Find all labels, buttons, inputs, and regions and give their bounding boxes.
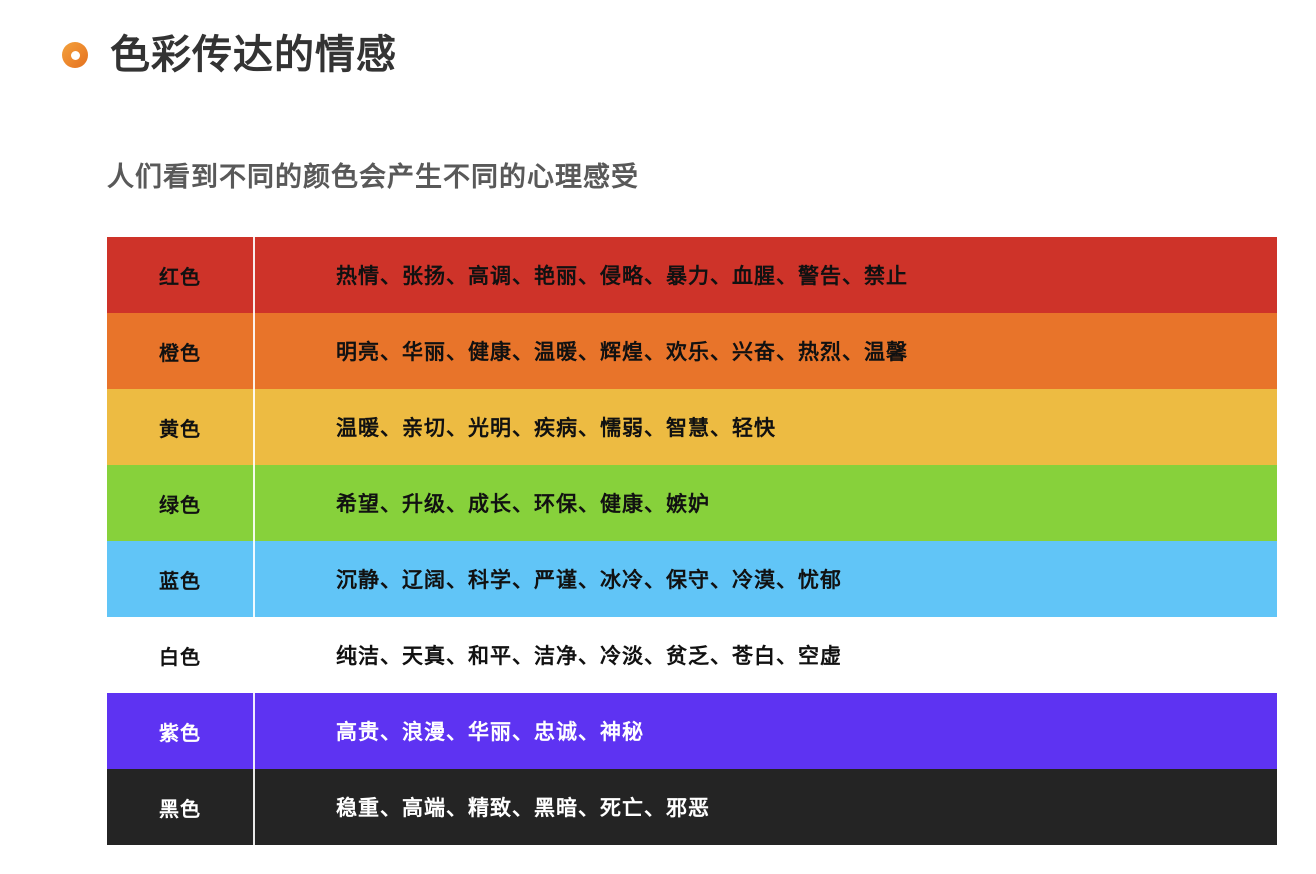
row-color-label: 白色 <box>107 641 253 670</box>
row-emotion-list: 稳重、高端、精致、黑暗、死亡、邪恶 <box>255 792 1277 822</box>
row-emotion-list: 沉静、辽阔、科学、严谨、冰冷、保守、冷漠、忧郁 <box>255 564 1277 594</box>
page-title: 色彩传达的情感 <box>110 35 397 75</box>
row-emotion-list: 明亮、华丽、健康、温暖、辉煌、欢乐、兴奋、热烈、温馨 <box>255 336 1277 366</box>
table-row: 黑色稳重、高端、精致、黑暗、死亡、邪恶 <box>107 769 1277 845</box>
table-row: 黄色温暖、亲切、光明、疾病、懦弱、智慧、轻快 <box>107 389 1277 465</box>
table-row: 橙色明亮、华丽、健康、温暖、辉煌、欢乐、兴奋、热烈、温馨 <box>107 313 1277 389</box>
row-emotion-list: 纯洁、天真、和平、洁净、冷淡、贫乏、苍白、空虚 <box>255 640 1277 670</box>
row-emotion-list: 高贵、浪漫、华丽、忠诚、神秘 <box>255 716 1277 746</box>
row-color-label: 红色 <box>107 261 253 290</box>
row-color-label: 蓝色 <box>107 565 253 594</box>
row-color-label: 绿色 <box>107 489 253 518</box>
table-row: 白色纯洁、天真、和平、洁净、冷淡、贫乏、苍白、空虚 <box>107 617 1277 693</box>
row-color-label: 紫色 <box>107 717 253 746</box>
row-emotion-list: 温暖、亲切、光明、疾病、懦弱、智慧、轻快 <box>255 412 1277 442</box>
row-color-label: 黑色 <box>107 793 253 822</box>
ring-bullet-icon <box>62 42 88 68</box>
table-row: 绿色希望、升级、成长、环保、健康、嫉妒 <box>107 465 1277 541</box>
slide-header: 色彩传达的情感 <box>0 0 1316 110</box>
color-emotion-table: 红色热情、张扬、高调、艳丽、侵略、暴力、血腥、警告、禁止橙色明亮、华丽、健康、温… <box>107 237 1277 845</box>
row-emotion-list: 希望、升级、成长、环保、健康、嫉妒 <box>255 488 1277 518</box>
table-row: 紫色高贵、浪漫、华丽、忠诚、神秘 <box>107 693 1277 769</box>
table-row: 红色热情、张扬、高调、艳丽、侵略、暴力、血腥、警告、禁止 <box>107 237 1277 313</box>
row-color-label: 黄色 <box>107 413 253 442</box>
table-row: 蓝色沉静、辽阔、科学、严谨、冰冷、保守、冷漠、忧郁 <box>107 541 1277 617</box>
row-color-label: 橙色 <box>107 337 253 366</box>
row-emotion-list: 热情、张扬、高调、艳丽、侵略、暴力、血腥、警告、禁止 <box>255 260 1277 290</box>
ring-bullet-icon-hole <box>71 51 80 60</box>
slide-subtitle: 人们看到不同的颜色会产生不同的心理感受 <box>107 155 639 194</box>
